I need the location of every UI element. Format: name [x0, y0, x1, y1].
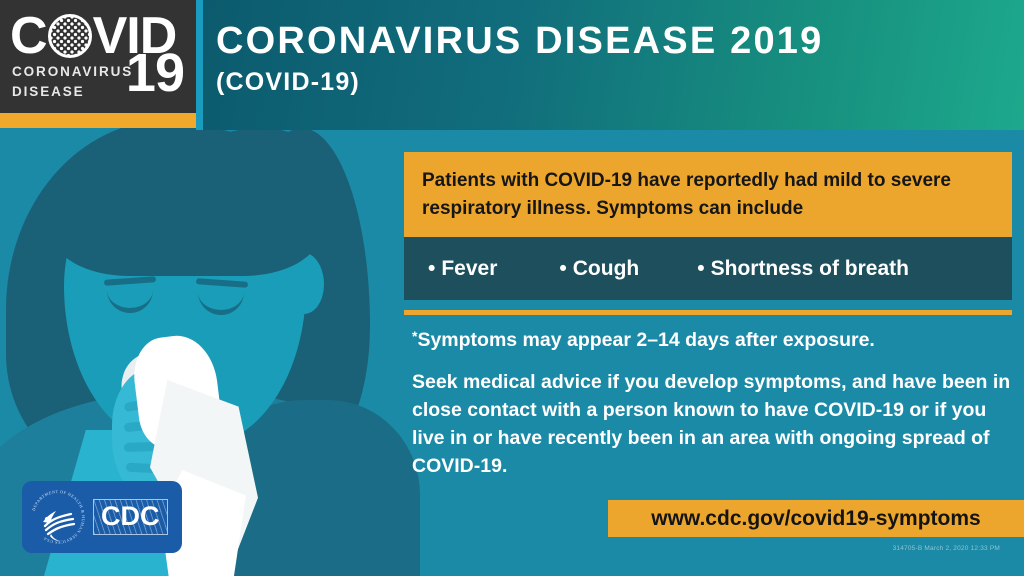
symptom-label-cough: Cough	[573, 257, 639, 280]
logo-yellow-underbar	[0, 113, 196, 128]
yellow-divider-rule	[404, 310, 1012, 315]
covid-logo-subtitle: CORONAVIRUS DISEASE	[12, 62, 133, 101]
covid19-logo-block: C VID CORONAVIRUS DISEASE 19	[0, 0, 196, 113]
url-text[interactable]: www.cdc.gov/covid19-symptoms	[651, 507, 980, 531]
symptom-item-cough: •Cough	[559, 257, 639, 281]
covid-logo-subtitle-line2: DISEASE	[12, 82, 133, 102]
callout-panel: Patients with COVID-19 have reportedly h…	[404, 152, 1012, 237]
header-text-group: CORONAVIRUS DISEASE 2019 (COVID-19)	[216, 22, 823, 97]
covid-logo-number: 19	[126, 46, 184, 100]
page-title: CORONAVIRUS DISEASE 2019	[216, 22, 823, 62]
symptom-label-fever: Fever	[441, 257, 497, 280]
incubation-note: *Symptoms may appear 2–14 days after exp…	[412, 327, 1012, 353]
bullet-icon: •	[559, 257, 566, 280]
incubation-note-text: Symptoms may appear 2–14 days after expo…	[417, 329, 874, 351]
cdc-logo: DEPARTMENT OF HEALTH & HUMAN SERVICES US…	[22, 481, 182, 553]
symptom-label-shortness-of-breath: Shortness of breath	[711, 257, 909, 280]
header-accent-stripe	[196, 0, 203, 130]
covid-letter-c: C	[10, 10, 47, 62]
advice-paragraph: Seek medical advice if you develop sympt…	[412, 368, 1012, 480]
symptom-item-shortness-of-breath: •Shortness of breath	[697, 257, 909, 281]
publication-fineprint: 314705-B March 2, 2020 12:33 PM	[893, 545, 1000, 552]
symptom-item-fever: •Fever	[428, 257, 497, 281]
bullet-icon: •	[428, 257, 435, 280]
page-subtitle: (COVID-19)	[216, 68, 823, 97]
callout-text: Patients with COVID-19 have reportedly h…	[422, 167, 994, 222]
virus-dotted-circle-icon	[48, 14, 92, 58]
cdc-wordmark: CDC	[93, 499, 168, 535]
covid-logo-subtitle-line1: CORONAVIRUS	[12, 62, 133, 82]
hhs-seal-icon: DEPARTMENT OF HEALTH & HUMAN SERVICES US…	[27, 486, 89, 548]
url-bar[interactable]: www.cdc.gov/covid19-symptoms	[608, 500, 1024, 537]
symptoms-strip: •Fever •Cough •Shortness of breath	[404, 237, 1012, 300]
bullet-icon: •	[697, 257, 704, 280]
covid19-symptoms-poster: CORONAVIRUS DISEASE 2019 (COVID-19) C VI…	[0, 0, 1024, 576]
cdc-letters: CDC	[101, 503, 160, 530]
